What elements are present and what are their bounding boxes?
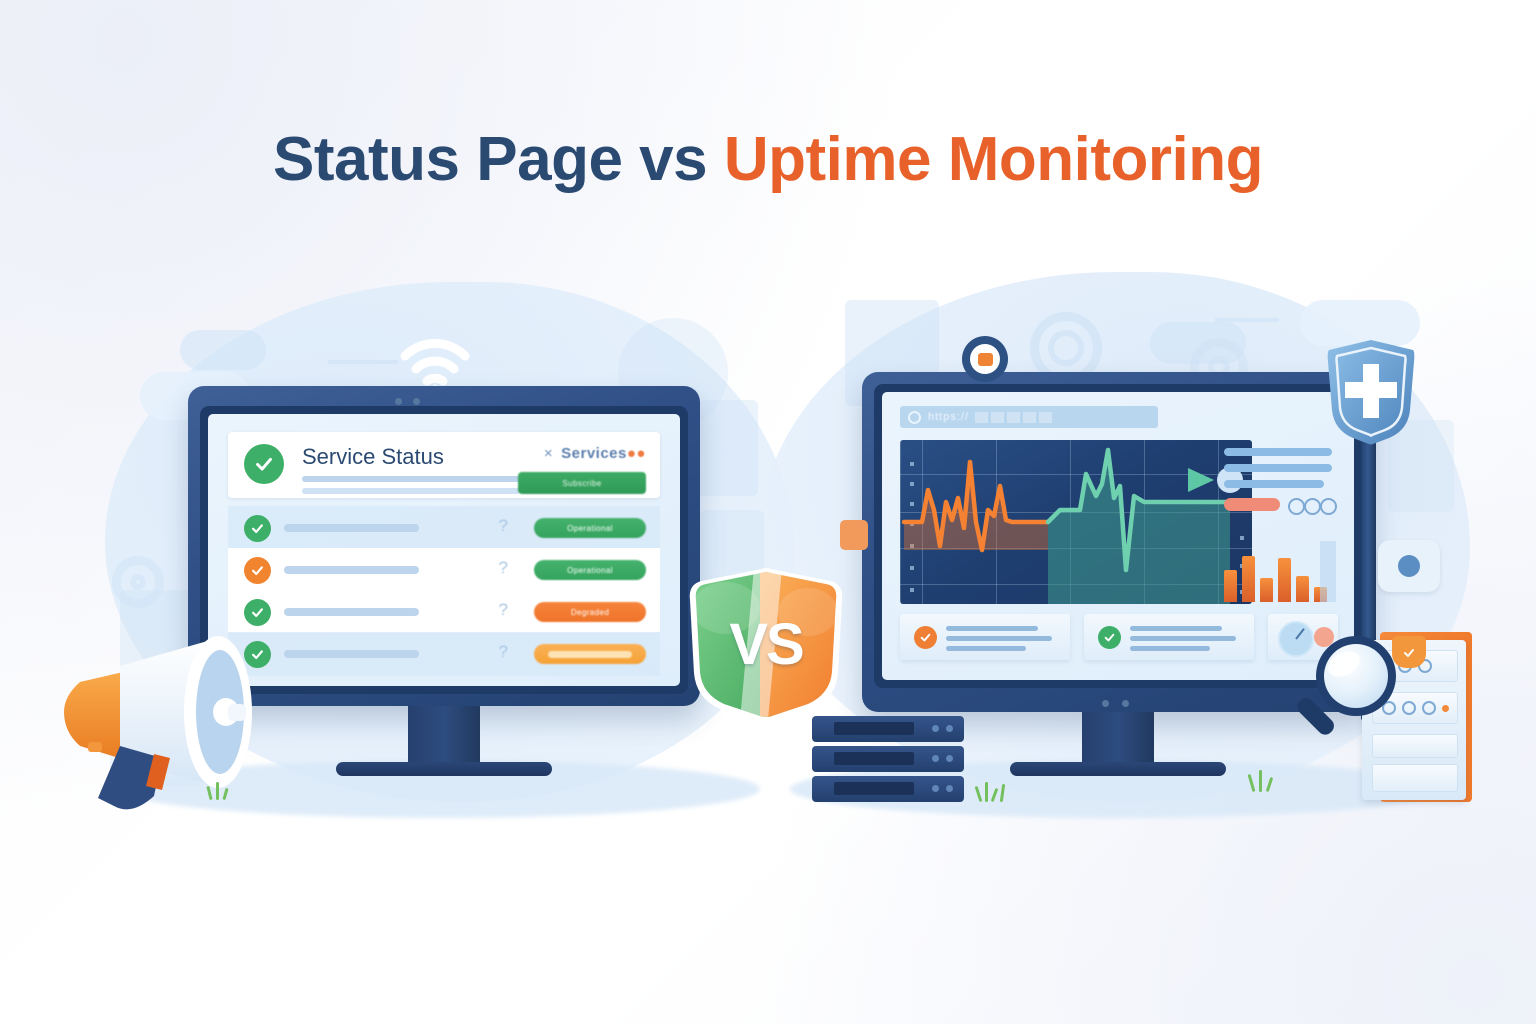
bar-chart bbox=[1222, 536, 1336, 602]
status-page-title: Service Status bbox=[302, 444, 444, 470]
status-badge: Degraded bbox=[534, 602, 646, 622]
page-title: Status Page vs Uptime Monitoring bbox=[0, 124, 1536, 195]
skeleton-line bbox=[1224, 448, 1332, 456]
decor-wave bbox=[328, 360, 398, 364]
page-title-primary: Status Page vs bbox=[273, 125, 724, 194]
brand-accent: ●● bbox=[627, 445, 646, 462]
gear-badge-icon bbox=[962, 336, 1008, 382]
status-page-header: Service Status ×Services●● Subscribe bbox=[228, 432, 660, 498]
check-circle-orange-icon bbox=[914, 626, 937, 649]
status-page-brand: ×Services●● bbox=[544, 445, 646, 462]
lock-badge-icon bbox=[840, 520, 868, 550]
skeleton-line bbox=[1224, 464, 1332, 472]
skeleton-line bbox=[302, 488, 520, 494]
close-icon[interactable]: × bbox=[544, 445, 553, 462]
progress-fill bbox=[548, 651, 632, 658]
page-title-accent: Uptime Monitoring bbox=[724, 125, 1263, 194]
vs-label: VS bbox=[686, 568, 846, 720]
play-marker-icon bbox=[1188, 468, 1214, 492]
url-bar[interactable]: https:// bbox=[900, 406, 1158, 428]
table-row[interactable]: ? Operational bbox=[228, 506, 660, 550]
status-badge: Operational bbox=[534, 518, 646, 538]
grass-decor bbox=[206, 782, 236, 800]
check-circle-green-icon bbox=[244, 444, 284, 484]
monitor-neck bbox=[408, 706, 480, 764]
skeleton-line bbox=[1224, 480, 1324, 488]
status-ring-icon bbox=[1320, 498, 1337, 515]
progress-badge bbox=[534, 644, 646, 664]
row-marker: ? bbox=[499, 600, 508, 620]
megaphone-icon bbox=[58, 620, 328, 820]
table-row[interactable]: ? Operational bbox=[228, 548, 660, 592]
skeleton-line bbox=[302, 476, 528, 482]
row-marker: ? bbox=[499, 558, 508, 578]
gear-icon bbox=[112, 556, 164, 608]
grass-decor bbox=[975, 782, 1015, 802]
cloud-shape bbox=[180, 330, 266, 370]
skeleton-line bbox=[284, 566, 419, 574]
response-time-chart bbox=[900, 440, 1252, 604]
globe-icon bbox=[908, 411, 921, 424]
user-badge-icon bbox=[1378, 540, 1440, 592]
server-stack-icon bbox=[812, 716, 972, 804]
grass-decor bbox=[1248, 770, 1282, 792]
uptime-monitoring-screen: https:// bbox=[882, 392, 1354, 680]
check-circle-orange-icon bbox=[244, 557, 271, 584]
monitor-neck bbox=[1082, 712, 1154, 764]
skeleton-line bbox=[284, 608, 419, 616]
metrics-side-panel bbox=[1218, 440, 1338, 604]
row-marker: ? bbox=[499, 516, 508, 536]
monitor-base bbox=[1010, 762, 1226, 776]
url-placeholder-blocks bbox=[975, 412, 1052, 423]
skeleton-line bbox=[284, 524, 419, 532]
check-circle-green-icon bbox=[1098, 626, 1121, 649]
status-badge: Operational bbox=[534, 560, 646, 580]
row-marker: ? bbox=[499, 642, 508, 662]
check-circle-green-icon bbox=[244, 515, 271, 542]
shield-cross-icon bbox=[1325, 338, 1417, 446]
brand-label: Services bbox=[561, 445, 627, 462]
magnifier-icon bbox=[1288, 628, 1408, 748]
vs-badge: VS bbox=[686, 568, 846, 720]
alert-bar bbox=[1224, 498, 1280, 511]
metric-card[interactable] bbox=[1084, 614, 1254, 660]
status-ring-icon bbox=[1288, 498, 1305, 515]
decor-wave bbox=[1215, 318, 1279, 322]
rack-slot bbox=[1372, 764, 1458, 792]
monitor-base bbox=[336, 762, 552, 776]
status-ring-icon bbox=[1304, 498, 1321, 515]
url-text: https:// bbox=[928, 411, 969, 423]
metric-card[interactable] bbox=[900, 614, 1070, 660]
illustration-canvas: Status Page vs Uptime Monitoring bbox=[0, 0, 1536, 1024]
subscribe-button[interactable]: Subscribe bbox=[518, 472, 646, 494]
